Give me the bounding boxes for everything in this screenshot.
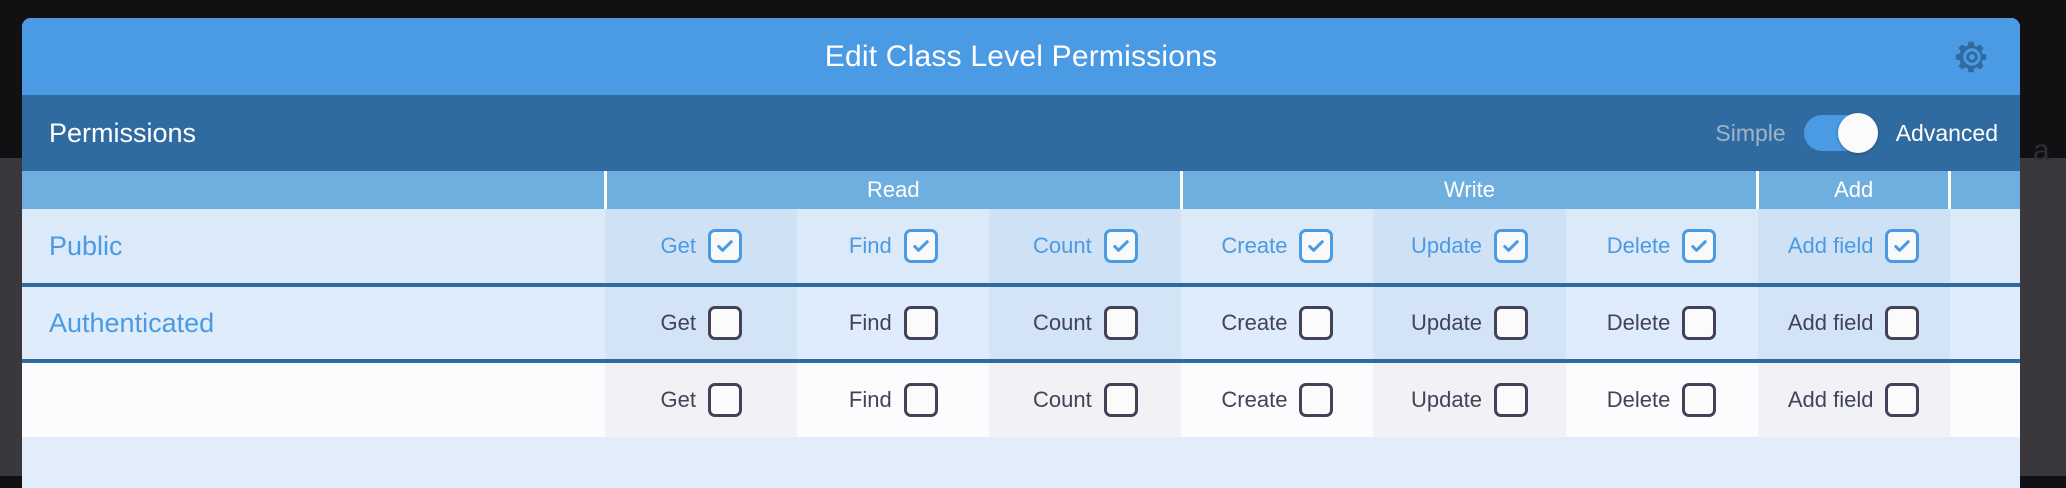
row-tail-cell: [1950, 285, 2020, 361]
permission-cell: Delete: [1566, 285, 1758, 361]
edit-class-level-permissions-modal: Edit Class Level Permissions Permissions…: [22, 18, 2020, 488]
permission-cell: Find: [797, 209, 989, 285]
table-row: PublicGetFindCountCreateUpdateDeleteAdd …: [22, 209, 2020, 285]
page-title: Edit Class Level Permissions: [22, 18, 2020, 95]
operation-label: Find: [849, 310, 892, 336]
row-tail-cell: [1950, 209, 2020, 285]
operation-label: Add field: [1788, 233, 1874, 259]
backdrop-ghost-text: a: [2033, 136, 2050, 166]
permission-cell: Update: [1373, 285, 1565, 361]
permission-cell: Find: [797, 361, 989, 437]
role-label[interactable]: [22, 361, 605, 437]
permission-checkbox[interactable]: [904, 383, 938, 417]
operation-label: Delete: [1607, 310, 1671, 336]
permission-checkbox[interactable]: [1885, 306, 1919, 340]
mode-switch: Simple Advanced: [1715, 95, 1998, 171]
gear-icon[interactable]: [1952, 37, 1992, 77]
permission-checkbox[interactable]: [1682, 383, 1716, 417]
operation-label: Delete: [1607, 233, 1671, 259]
permission-cell: Count: [989, 285, 1181, 361]
row-tail-cell: [1950, 361, 2020, 437]
operation-label: Get: [661, 233, 696, 259]
permission-checkbox[interactable]: [1682, 229, 1716, 263]
permission-cell: Count: [989, 209, 1181, 285]
mode-label-advanced[interactable]: Advanced: [1896, 120, 1998, 147]
operation-label: Find: [849, 387, 892, 413]
permission-checkbox[interactable]: [708, 229, 742, 263]
operation-label: Count: [1033, 387, 1092, 413]
permission-checkbox[interactable]: [1104, 306, 1138, 340]
group-header-blank: [22, 171, 605, 209]
permission-checkbox[interactable]: [1682, 306, 1716, 340]
operation-label: Update: [1411, 233, 1482, 259]
operation-label: Create: [1221, 233, 1287, 259]
permissions-table: Read Write Add PublicGetFindCountCreateU…: [22, 171, 2020, 437]
operation-label: Create: [1221, 387, 1287, 413]
permission-checkbox[interactable]: [1494, 383, 1528, 417]
permission-checkbox[interactable]: [904, 306, 938, 340]
permission-cell: Get: [605, 285, 797, 361]
permission-checkbox[interactable]: [1299, 229, 1333, 263]
role-label[interactable]: Public: [22, 209, 605, 285]
operation-label: Count: [1033, 233, 1092, 259]
permission-cell: Update: [1373, 209, 1565, 285]
permission-cell: Add field: [1758, 361, 1950, 437]
simple-advanced-toggle[interactable]: [1804, 115, 1878, 151]
permission-checkbox[interactable]: [1885, 229, 1919, 263]
permission-checkbox[interactable]: [904, 229, 938, 263]
permission-cell: Update: [1373, 361, 1565, 437]
operation-label: Add field: [1788, 310, 1874, 336]
role-label[interactable]: Authenticated: [22, 285, 605, 361]
permission-cell: Get: [605, 209, 797, 285]
permissions-heading: Permissions: [49, 118, 196, 149]
table-row: GetFindCountCreateUpdateDeleteAdd field: [22, 361, 2020, 437]
mode-label-simple[interactable]: Simple: [1715, 120, 1785, 147]
permission-cell: Create: [1181, 361, 1373, 437]
permission-checkbox[interactable]: [708, 306, 742, 340]
operation-label: Delete: [1607, 387, 1671, 413]
operation-label: Count: [1033, 310, 1092, 336]
operation-label: Update: [1411, 387, 1482, 413]
operation-label: Get: [661, 310, 696, 336]
permission-cell: Create: [1181, 285, 1373, 361]
permission-cell: Delete: [1566, 361, 1758, 437]
group-header-add: Add: [1758, 171, 1950, 209]
permission-cell: Count: [989, 361, 1181, 437]
operation-label: Get: [661, 387, 696, 413]
permission-checkbox[interactable]: [708, 383, 742, 417]
permission-cell: Delete: [1566, 209, 1758, 285]
modal-titlebar: Edit Class Level Permissions: [22, 18, 2020, 95]
group-header-write: Write: [1181, 171, 1757, 209]
permission-checkbox[interactable]: [1885, 383, 1919, 417]
operation-label: Add field: [1788, 387, 1874, 413]
permission-checkbox[interactable]: [1299, 306, 1333, 340]
operation-label: Update: [1411, 310, 1482, 336]
permission-checkbox[interactable]: [1494, 306, 1528, 340]
permission-cell: Add field: [1758, 285, 1950, 361]
toggle-knob: [1838, 113, 1878, 153]
permissions-subheader: Permissions Simple Advanced: [22, 95, 2020, 171]
table-group-header-row: Read Write Add: [22, 171, 2020, 209]
table-row: AuthenticatedGetFindCountCreateUpdateDel…: [22, 285, 2020, 361]
permission-checkbox[interactable]: [1494, 229, 1528, 263]
permission-checkbox[interactable]: [1299, 383, 1333, 417]
permission-cell: Find: [797, 285, 989, 361]
group-header-tail: [1950, 171, 2020, 209]
permission-checkbox[interactable]: [1104, 229, 1138, 263]
operation-label: Find: [849, 233, 892, 259]
operation-label: Create: [1221, 310, 1287, 336]
permission-checkbox[interactable]: [1104, 383, 1138, 417]
permission-cell: Get: [605, 361, 797, 437]
group-header-read: Read: [605, 171, 1181, 209]
permission-cell: Add field: [1758, 209, 1950, 285]
permission-cell: Create: [1181, 209, 1373, 285]
